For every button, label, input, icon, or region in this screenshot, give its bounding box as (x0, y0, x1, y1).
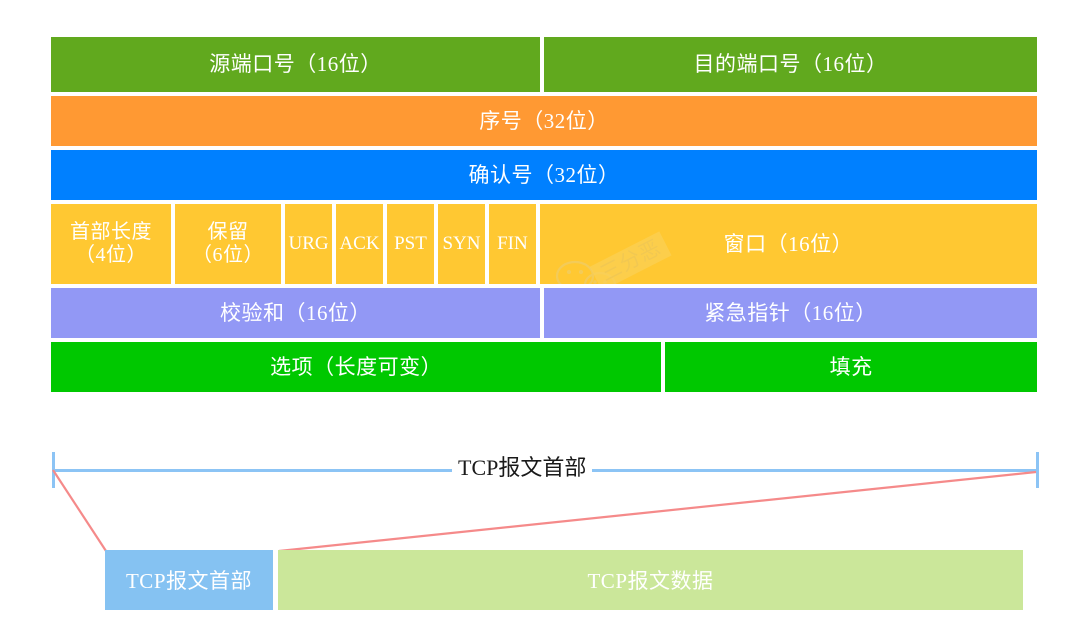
field-destination-port: 目的端口号（16位） (544, 37, 1037, 92)
header-row-flags: 首部长度 （4位） 保留 （6位） URG ACK PST SYN FIN (51, 204, 1037, 284)
field-padding: 填充 (665, 342, 1037, 392)
flag-fin: FIN (489, 204, 540, 284)
flag-urg: URG (285, 204, 336, 284)
flag-pst: PST (387, 204, 438, 284)
segment-bar-data: TCP报文数据 (278, 550, 1023, 610)
header-row-options: 选项（长度可变） 填充 (51, 342, 1037, 392)
tcp-header-field-table: 源端口号（16位） 目的端口号（16位） 序号（32位） 确认号（32位） 首部… (51, 37, 1037, 396)
flag-syn: SYN (438, 204, 489, 284)
header-row-acknowledgement: 确认号（32位） (51, 150, 1037, 200)
field-window: 三分恶 窗口（16位） (540, 204, 1037, 284)
field-urgent-pointer: 紧急指针（16位） (544, 288, 1037, 338)
field-sequence-number: 序号（32位） (51, 96, 1037, 146)
tcp-header-diagram: 源端口号（16位） 目的端口号（16位） 序号（32位） 确认号（32位） 首部… (0, 0, 1080, 643)
header-span-tick-right (1036, 452, 1039, 488)
field-checksum: 校验和（16位） (51, 288, 544, 338)
header-span-label: TCP报文首部 (452, 450, 592, 482)
header-row-sequence: 序号（32位） (51, 96, 1037, 146)
header-row-ports: 源端口号（16位） 目的端口号（16位） (51, 37, 1037, 92)
flag-ack: ACK (336, 204, 387, 284)
svg-text:三分恶: 三分恶 (596, 235, 664, 284)
segment-bar-header-label: TCP报文首部 (126, 565, 252, 595)
field-acknowledgement-number: 确认号（32位） (51, 150, 1037, 200)
header-row-checksum: 校验和（16位） 紧急指针（16位） (51, 288, 1037, 338)
segment-bar-data-label: TCP报文数据 (587, 565, 713, 595)
field-options: 选项（长度可变） (51, 342, 665, 392)
header-span-tick-left (52, 452, 55, 488)
field-source-port: 源端口号（16位） (51, 37, 544, 92)
field-reserved: 保留 （6位） (175, 204, 285, 284)
segment-bar-header: TCP报文首部 (105, 550, 273, 610)
wechat-bubbles-icon: 三分恶 (548, 206, 688, 284)
field-header-length: 首部长度 （4位） (51, 204, 175, 284)
field-window-label: 窗口（16位） (724, 232, 854, 256)
